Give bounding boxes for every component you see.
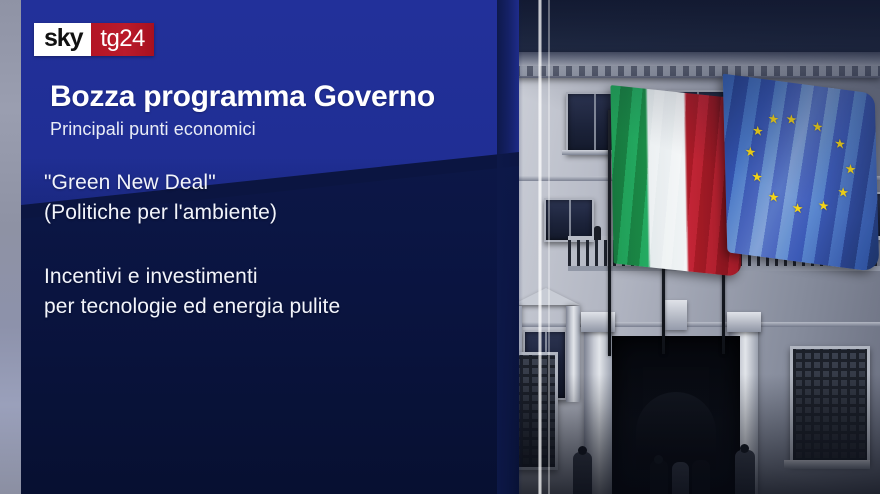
bullet-item: Incentivi e investimenti per tecnologie … <box>44 262 504 322</box>
bullet-line-2: per tecnologie ed energia pulite <box>44 292 504 322</box>
broadcast-frame: ★ ★ ★ ★ ★ ★ ★ ★ ★ ★ ★ ★ <box>0 0 880 494</box>
bullet-line-2: (Politiche per l'ambiente) <box>44 198 504 228</box>
logo-tg24-block: tg24 <box>91 23 153 56</box>
lower-third-panel <box>21 0 519 494</box>
facade-drainpipe-secondary <box>548 0 550 494</box>
bullet-line-1: "Green New Deal" <box>44 168 504 198</box>
bullet-line-1: Incentivi e investimenti <box>44 262 504 292</box>
facade-drainpipe <box>538 0 542 494</box>
logo-sky-text: sky <box>44 26 82 51</box>
headline: Bozza programma Governo <box>50 81 490 113</box>
bullet-item: "Green New Deal" (Politiche per l'ambien… <box>44 168 504 228</box>
logo-sky-block: sky <box>34 23 91 56</box>
left-edge-strip <box>0 0 21 494</box>
subheadline: Principali punti economici <box>50 119 490 140</box>
logo-tg24-text: tg24 <box>100 27 144 51</box>
sky-tg24-logo[interactable]: sky tg24 <box>34 23 154 56</box>
panel-right-fade <box>497 0 523 494</box>
